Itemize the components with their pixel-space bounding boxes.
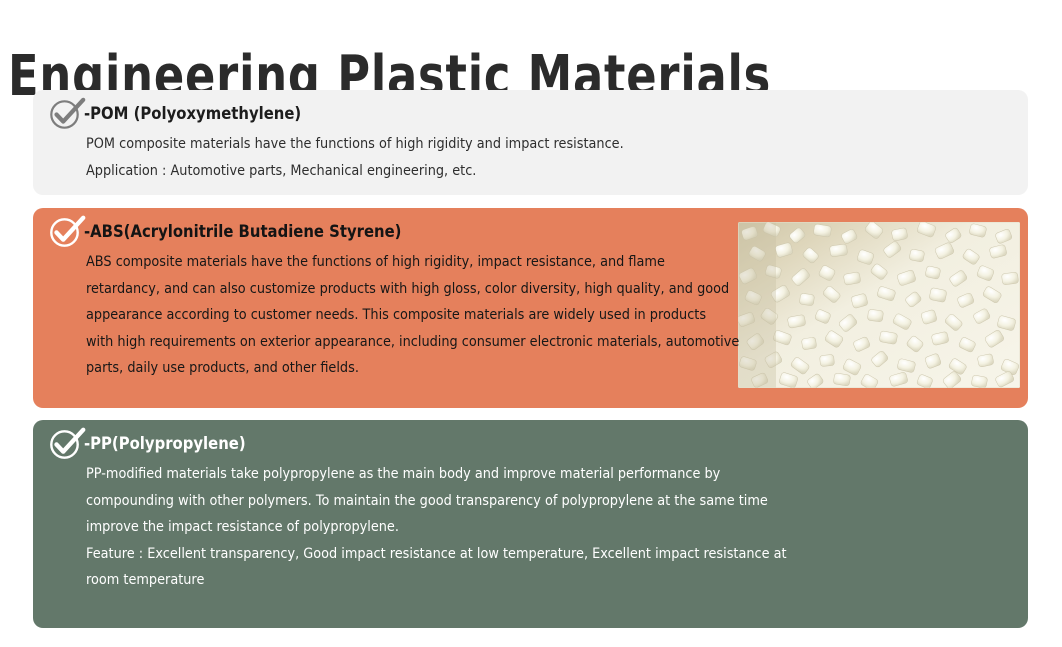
card-content-pp: -PP(Polypropylene) PP-modified materials… [33, 420, 1028, 604]
card-line: improve the impact resistance of polypro… [86, 514, 1028, 541]
card-line: POM composite materials have the functio… [86, 131, 1028, 158]
card-line: parts, daily use products, and other fie… [86, 355, 785, 382]
card-line: compounding with other polymers. To main… [86, 488, 1028, 515]
material-card-pp: -PP(Polypropylene) PP-modified materials… [33, 420, 1028, 628]
card-title-abs: -ABS(Acrylonitrile Butadiene Styrene) [84, 218, 401, 246]
card-line: ABS composite materials have the functio… [86, 249, 785, 276]
card-content-abs: -ABS(Acrylonitrile Butadiene Styrene) AB… [33, 208, 1028, 392]
check-circle-icon [48, 97, 86, 130]
card-title-pp: -PP(Polypropylene) [84, 430, 246, 458]
card-body-abs: ABS composite materials have the functio… [86, 249, 785, 382]
card-content-pom: -POM (Polyoxymethylene) POM composite ma… [33, 90, 1028, 194]
material-card-abs: -ABS(Acrylonitrile Butadiene Styrene) AB… [33, 208, 1028, 408]
card-heading-pp: -PP(Polypropylene) [47, 430, 1010, 460]
document-page: Engineering Plastic Materials -POM (Poly… [0, 0, 1062, 647]
check-circle-icon [48, 215, 86, 248]
card-line: retardancy, and can also customize produ… [86, 276, 785, 303]
card-heading-abs: -ABS(Acrylonitrile Butadiene Styrene) [47, 218, 1010, 248]
card-line: Application : Automotive parts, Mechanic… [86, 158, 1028, 185]
card-body-pp: PP-modified materials take polypropylene… [86, 461, 1028, 594]
card-line: with high requirements on exterior appea… [86, 329, 785, 356]
card-line: Feature : Excellent transparency, Good i… [86, 541, 1028, 568]
card-line: PP-modified materials take polypropylene… [86, 461, 1028, 488]
card-line: appearance according to customer needs. … [86, 302, 785, 329]
card-body-pom: POM composite materials have the functio… [86, 131, 1028, 184]
check-circle-icon [48, 427, 86, 460]
card-line: room temperature [86, 567, 1028, 594]
card-title-pom: -POM (Polyoxymethylene) [84, 100, 301, 128]
card-heading-pom: -POM (Polyoxymethylene) [47, 100, 1010, 130]
material-card-pom: -POM (Polyoxymethylene) POM composite ma… [33, 90, 1028, 195]
